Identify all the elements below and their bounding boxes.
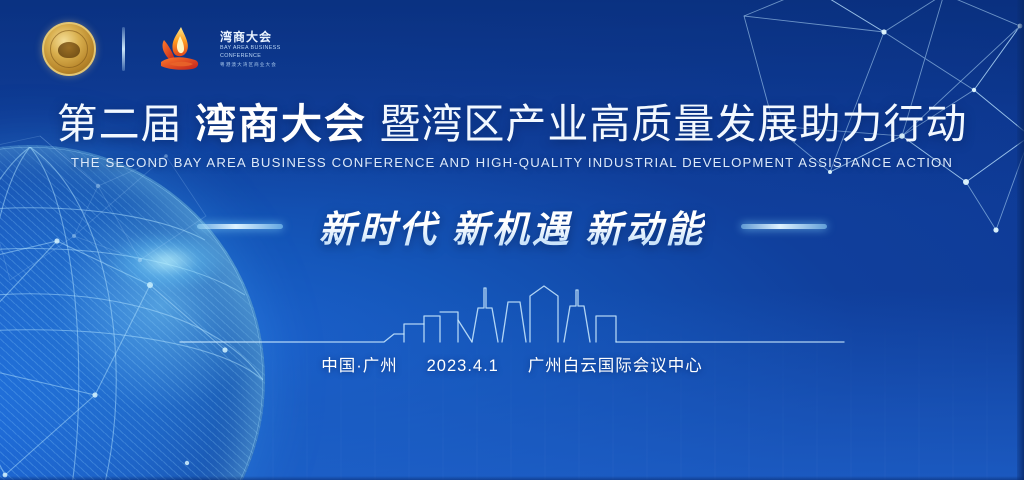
title-english-subtitle: THE SECOND BAY AREA BUSINESS CONFERENCE … (0, 155, 1024, 170)
footer-location: 中国·广州 (321, 357, 398, 375)
vertical-divider-icon (122, 27, 125, 71)
logo-mark-en: BAY AREA BUSINESS CONFERENCE (220, 45, 281, 61)
dash-rule-right-icon (741, 224, 827, 229)
city-skyline-line-art-icon (172, 272, 852, 350)
logo-mark-sub: 粤港澳大湾区商业大会 (220, 63, 281, 68)
title-part-2: 湾商大会 (195, 101, 367, 147)
bottom-edge-border (0, 476, 1024, 480)
gold-circular-emblem-icon (42, 22, 96, 76)
right-edge-border (1017, 0, 1024, 480)
title-part-1: 第二届 (57, 101, 183, 147)
flame-torch-logo-icon (151, 24, 207, 74)
footer-info: 中国·广州 2023.4.1 广州白云国际会议中心 (0, 352, 1024, 376)
slogan-text: 新时代 新机遇 新动能 (319, 199, 706, 253)
title-part-3: 暨湾区产业高质量发展助力行动 (379, 101, 967, 147)
page-title: 第二届 湾商大会 暨湾区产业高质量发展助力行动 (0, 103, 1024, 146)
title-block: 第二届 湾商大会 暨湾区产业高质量发展助力行动 THE SECOND BAY A… (0, 103, 1024, 170)
slogan-row: 新时代 新机遇 新动能 (0, 199, 1024, 253)
footer-venue: 广州白云国际会议中心 (528, 357, 703, 375)
dash-rule-left-icon (197, 224, 283, 229)
footer-date: 2023.4.1 (427, 357, 499, 375)
logo-row: 湾商大会 BAY AREA BUSINESS CONFERENCE 粤港澳大湾区… (42, 22, 281, 76)
logo-mark-text: 湾商大会 BAY AREA BUSINESS CONFERENCE 粤港澳大湾区… (220, 31, 281, 67)
logo-mark-cn: 湾商大会 (220, 31, 281, 43)
conference-banner: 湾商大会 BAY AREA BUSINESS CONFERENCE 粤港澳大湾区… (0, 0, 1024, 480)
